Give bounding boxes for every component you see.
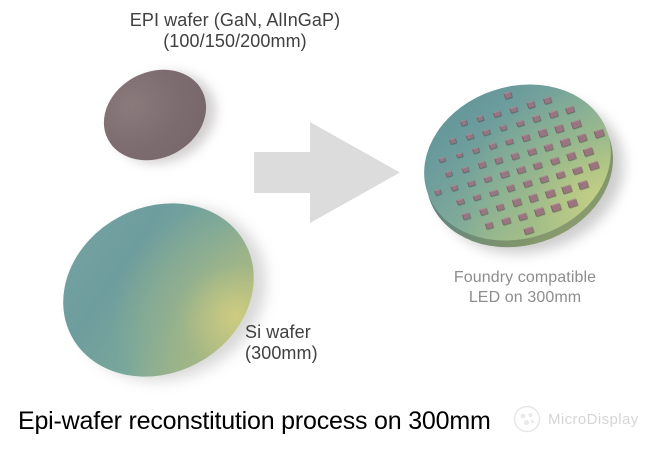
si-wafer-disc (33, 170, 285, 409)
led-die (567, 198, 578, 208)
led-die (466, 133, 473, 140)
led-die (551, 203, 561, 212)
led-die (565, 106, 575, 114)
led-die (578, 180, 589, 190)
led-die (499, 124, 507, 131)
led-die (526, 101, 535, 109)
si-wafer-label: Si wafer (300mm) (245, 322, 415, 364)
led-die (517, 166, 526, 174)
led-die (445, 170, 452, 177)
led-die (532, 115, 541, 123)
led-die (489, 189, 498, 197)
epi-wafer-label: EPI wafer (GaN, AlInGaP) (100/150/200mm) (55, 10, 415, 52)
led-die (456, 198, 464, 205)
led-die (482, 129, 490, 136)
led-die-grid (404, 61, 632, 264)
led-die (539, 175, 549, 184)
led-die (524, 226, 534, 235)
led-die (488, 143, 496, 150)
led-die (534, 207, 544, 216)
watermark-text: MicroDisplay (548, 411, 639, 428)
led-die (593, 129, 604, 138)
led-die (439, 157, 446, 163)
led-die (521, 133, 530, 141)
led-die (516, 120, 524, 128)
led-die (556, 170, 566, 179)
figure-caption: Epi-wafer reconstitution process on 300m… (18, 405, 491, 437)
led-die (544, 143, 554, 151)
led-die (472, 147, 480, 154)
epi-wafer-disc (88, 53, 221, 178)
led-wafer-disc (404, 60, 637, 273)
led-die (462, 212, 470, 219)
watermark: MicroDisplay (512, 404, 639, 434)
led-die (478, 161, 486, 168)
led-die (511, 152, 520, 160)
led-die (589, 161, 600, 171)
led-die (449, 138, 456, 144)
led-die (566, 152, 576, 161)
led-die (450, 184, 458, 191)
led-wafer-face (404, 61, 632, 264)
led-die (495, 203, 504, 211)
led-die (549, 110, 558, 118)
led-die (504, 92, 512, 99)
led-die (512, 198, 521, 206)
led-die (494, 157, 502, 164)
led-die (538, 129, 547, 137)
led-die (583, 147, 594, 156)
led-die (460, 120, 467, 126)
led-die (484, 175, 492, 182)
led-die (455, 152, 462, 159)
led-die (577, 133, 587, 142)
led-die (527, 147, 536, 155)
led-die (533, 161, 542, 169)
led-die (545, 189, 555, 198)
led-die (493, 110, 501, 117)
led-die (560, 138, 570, 147)
led-die (500, 170, 509, 178)
led-die (550, 157, 560, 166)
led-die (506, 184, 515, 192)
foundry-compatible-label: Foundry compatible LED on 300mm (420, 268, 630, 308)
led-die (479, 208, 488, 216)
led-die (505, 138, 513, 145)
led-die (473, 194, 481, 201)
led-die (477, 115, 484, 122)
led-die (485, 221, 494, 229)
figure-canvas: EPI wafer (GaN, AlInGaP) (100/150/200mm)… (0, 0, 670, 453)
led-die (467, 180, 475, 187)
led-die (572, 166, 583, 175)
led-die (434, 189, 441, 195)
led-die (518, 212, 528, 221)
led-die (501, 217, 510, 225)
led-die (528, 194, 538, 203)
led-die (571, 120, 581, 129)
process-arrow-icon (254, 122, 400, 223)
led-die (554, 124, 564, 132)
led-die (461, 166, 469, 173)
microdisplay-logo-icon (512, 404, 542, 434)
led-die (522, 180, 531, 188)
led-die (510, 106, 518, 113)
led-die (561, 184, 572, 193)
arrow-right-icon (254, 122, 400, 223)
led-die (543, 96, 552, 104)
